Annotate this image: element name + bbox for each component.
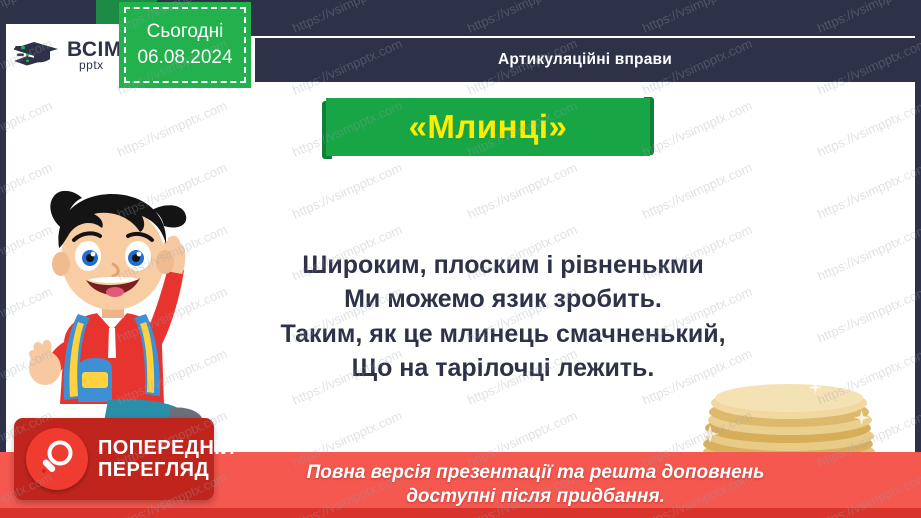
watermark-text: https://vsimpptx.com — [640, 0, 754, 36]
banner-title-text: «Млинці» — [409, 108, 568, 146]
poem-line: Широким, плоским і рівненькми — [238, 248, 768, 282]
watermark-text: https://vsimpptx.com — [815, 0, 921, 36]
watermark-text: https://vsimpptx.com — [465, 0, 579, 36]
page-title: Артикуляційні вправи — [498, 51, 672, 69]
preview-badge-line1: ПОПЕРЕДНІЙ — [98, 437, 235, 459]
date-badge-value: 06.08.2024 — [137, 45, 232, 71]
bottom-accent-strip — [0, 508, 921, 518]
poem-block: Широким, плоским і рівненькми Ми можемо … — [238, 248, 768, 385]
preview-badge: ПОПЕРЕДНІЙ ПЕРЕГЛЯД — [14, 418, 214, 500]
poem-line: Таким, як це млинець смачненький, — [238, 317, 768, 351]
watermark-text: https://vsimpptx.com — [290, 0, 404, 36]
purchase-notice-line1: Повна версія презентації та решта доповн… — [160, 461, 911, 485]
banner-body: «Млинці» — [326, 98, 650, 156]
logo-brand-text: ВСІМ — [67, 39, 122, 60]
date-badge: Сьогодні 06.08.2024 — [119, 2, 251, 88]
slide-root: ВСІМ pptx Сьогодні 06.08.2024 Артикуляці… — [0, 0, 921, 518]
header-bar: Артикуляційні вправи — [255, 38, 915, 82]
magnifier-icon — [26, 428, 88, 490]
brand-logo: ВСІМ pptx — [6, 24, 136, 86]
graduation-cap-icon — [14, 36, 66, 74]
purchase-notice-line2: доступні після придбання. — [160, 485, 911, 509]
preview-badge-line2: ПЕРЕГЛЯД — [98, 459, 235, 481]
title-banner: «Млинці» — [322, 97, 654, 159]
cartoon-boy-icon — [12, 172, 220, 422]
poem-line: Ми можемо язик зробить. — [238, 282, 768, 316]
date-badge-label: Сьогодні — [147, 19, 224, 45]
